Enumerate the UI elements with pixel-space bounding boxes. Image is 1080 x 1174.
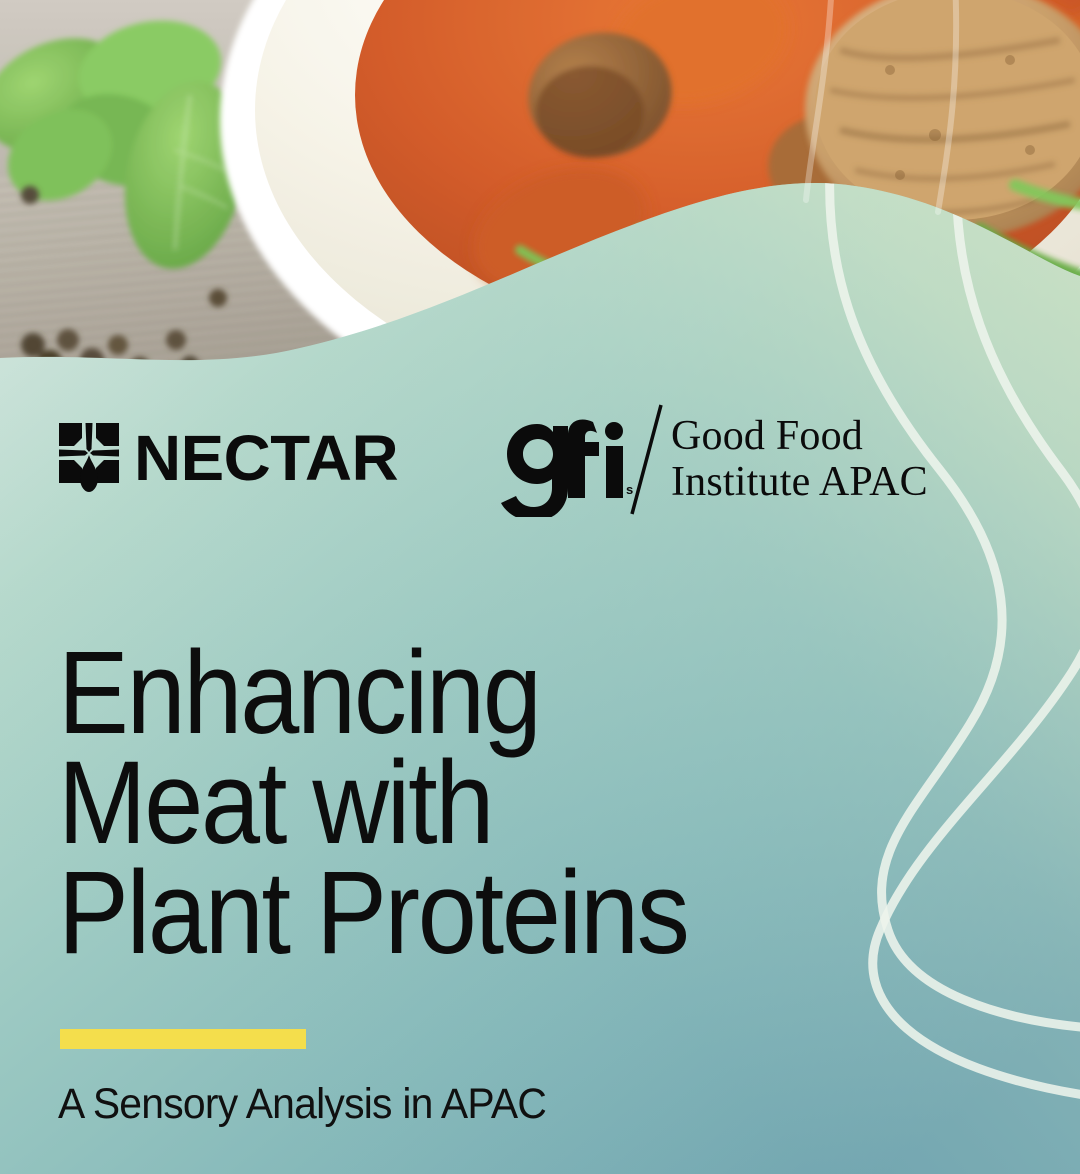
cover-content: NECTAR sm xyxy=(0,0,1080,1174)
gfi-name-line-1: Good Food xyxy=(671,414,928,459)
gfi-monogram-icon: sm xyxy=(498,402,633,517)
accent-bar xyxy=(60,1029,306,1049)
report-cover: NECTAR sm xyxy=(0,0,1080,1174)
nectar-wordmark: NECTAR xyxy=(134,426,398,490)
title-line-2: Meat with xyxy=(58,748,922,858)
gfi-name-line-2: Institute APAC xyxy=(671,460,928,505)
page-title: Enhancing Meat with Plant Proteins xyxy=(58,638,1018,968)
logo-row: NECTAR sm xyxy=(58,400,958,520)
page-subtitle: A Sensory Analysis in APAC xyxy=(58,1080,546,1129)
gfi-logo: sm Good Food Institute APAC xyxy=(498,402,928,517)
title-line-3: Plant Proteins xyxy=(58,858,922,968)
nectar-burst-droplet-icon xyxy=(58,422,120,494)
nectar-logo: NECTAR xyxy=(58,422,393,494)
title-line-1: Enhancing xyxy=(58,638,922,748)
gfi-name: Good Food Institute APAC xyxy=(671,414,928,505)
gfi-divider-slash-icon xyxy=(627,402,669,517)
